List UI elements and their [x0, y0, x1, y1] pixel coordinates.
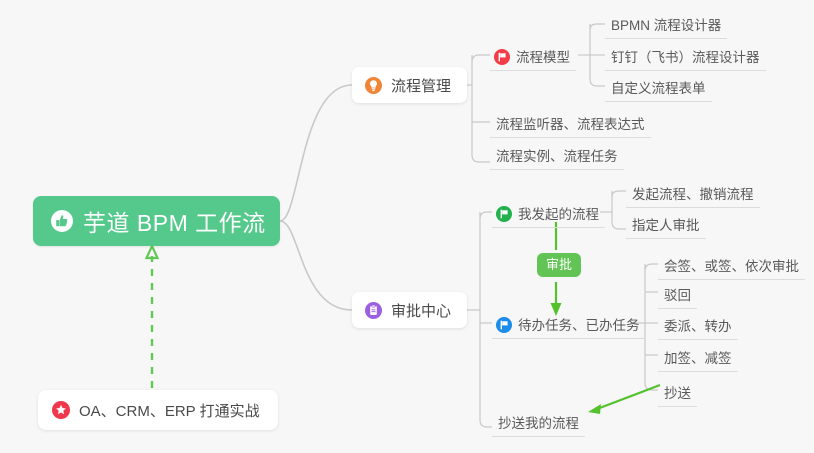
leaf-cc-my-process[interactable]: 抄送我的流程: [492, 409, 585, 437]
edge-todo-done-branch-1: [645, 264, 658, 271]
leaf-custom-form[interactable]: 自定义流程表单: [605, 74, 712, 102]
edge-approval-center-spine-down: [480, 310, 492, 427]
leaf-label-countersign: 会签、或签、依次审批: [664, 259, 799, 274]
accent-node-integration[interactable]: OA、CRM、ERP 打通实战: [38, 390, 278, 430]
branch-label-process-mgmt: 流程管理: [391, 75, 451, 96]
leaf-reject[interactable]: 驳回: [658, 281, 697, 309]
badge-approval[interactable]: 审批: [537, 253, 581, 277]
leaf-label-designated-approval: 指定人审批: [632, 218, 700, 233]
leaf-label-initiate-cancel: 发起流程、撤销流程: [632, 187, 754, 202]
leaf-instance-task[interactable]: 流程实例、流程任务: [490, 142, 624, 170]
leaf-label-add-remove-sign: 加签、减签: [664, 351, 732, 366]
thumbs-up-icon: [51, 210, 73, 232]
leaf-add-remove-sign[interactable]: 加签、减签: [658, 344, 738, 372]
leaf-label-instance-task: 流程实例、流程任务: [496, 149, 618, 164]
leaf-todo-done[interactable]: 待办任务、已办任务: [492, 311, 646, 339]
edge-my-initiated-spine: [612, 191, 626, 229]
leaf-process-model[interactable]: 流程模型: [490, 43, 576, 71]
arrow-cc-to-cc-my-process-head: [588, 404, 601, 414]
edge-process-mgmt-branch-1: [472, 55, 490, 62]
leaf-initiate-cancel[interactable]: 发起流程、撤销流程: [626, 180, 760, 208]
leaf-label-custom-form: 自定义流程表单: [611, 81, 706, 96]
leaf-label-cc-my-process: 抄送我的流程: [498, 416, 579, 431]
star-icon: [52, 401, 70, 419]
leaf-dingtalk-designer[interactable]: 钉钉（飞书）流程设计器: [605, 43, 766, 71]
arrow-cc-to-cc-my-process-line: [597, 385, 660, 409]
edge-process-model-branch-1: [590, 24, 605, 30]
leaf-designated-approval[interactable]: 指定人审批: [626, 211, 706, 239]
edge-my-initiated-branch-1: [612, 191, 626, 197]
accent-label-integration: OA、CRM、ERP 打通实战: [79, 400, 260, 421]
leaf-listener-expression[interactable]: 流程监听器、流程表达式: [490, 110, 651, 138]
edge-root-to-approval-center: [280, 221, 352, 310]
flag-icon: [496, 317, 512, 333]
leaf-label-listener-expression: 流程监听器、流程表达式: [496, 117, 645, 132]
arrow-accent-to-root-head: [147, 246, 158, 258]
leaf-label-process-model: 流程模型: [516, 50, 570, 65]
leaf-label-my-initiated: 我发起的流程: [518, 207, 599, 222]
root-node[interactable]: 芋道 BPM 工作流: [33, 196, 280, 246]
lightbulb-icon: [365, 77, 382, 94]
edge-approval-center-branch-1: [480, 212, 492, 219]
flag-icon: [494, 49, 510, 65]
leaf-my-initiated[interactable]: 我发起的流程: [492, 200, 605, 228]
root-label: 芋道 BPM 工作流: [83, 204, 266, 238]
edge-root-to-process-mgmt: [280, 85, 352, 221]
branch-label-approval-center: 审批中心: [391, 300, 451, 321]
leaf-bpmn-designer[interactable]: BPMN 流程设计器: [605, 11, 727, 39]
leaf-label-cc: 抄送: [664, 386, 691, 401]
branch-node-approval-center[interactable]: 审批中心: [352, 292, 467, 328]
edge-todo-done-spine: [645, 264, 658, 390]
leaf-cc[interactable]: 抄送: [658, 379, 697, 407]
branch-node-process-mgmt[interactable]: 流程管理: [352, 67, 467, 103]
edge-process-model-spine: [590, 24, 605, 86]
leaf-label-reject: 驳回: [664, 288, 691, 303]
leaf-label-dingtalk-designer: 钉钉（飞书）流程设计器: [611, 50, 760, 65]
leaf-delegate-transfer[interactable]: 委派、转办: [658, 312, 738, 340]
leaf-label-todo-done: 待办任务、已办任务: [518, 318, 640, 333]
leaf-label-bpmn-designer: BPMN 流程设计器: [611, 18, 721, 33]
edge-process-mgmt-spine: [472, 55, 490, 162]
clipboard-icon: [365, 302, 382, 319]
leaf-countersign[interactable]: 会签、或签、依次审批: [658, 252, 805, 280]
flag-icon: [496, 206, 512, 222]
badge-approval-label: 审批: [546, 257, 572, 272]
mindmap-canvas: 芋道 BPM 工作流 流程管理 审批中心: [0, 0, 814, 453]
leaf-label-delegate-transfer: 委派、转办: [664, 319, 732, 334]
edge-approval-center-spine-up: [472, 212, 480, 310]
